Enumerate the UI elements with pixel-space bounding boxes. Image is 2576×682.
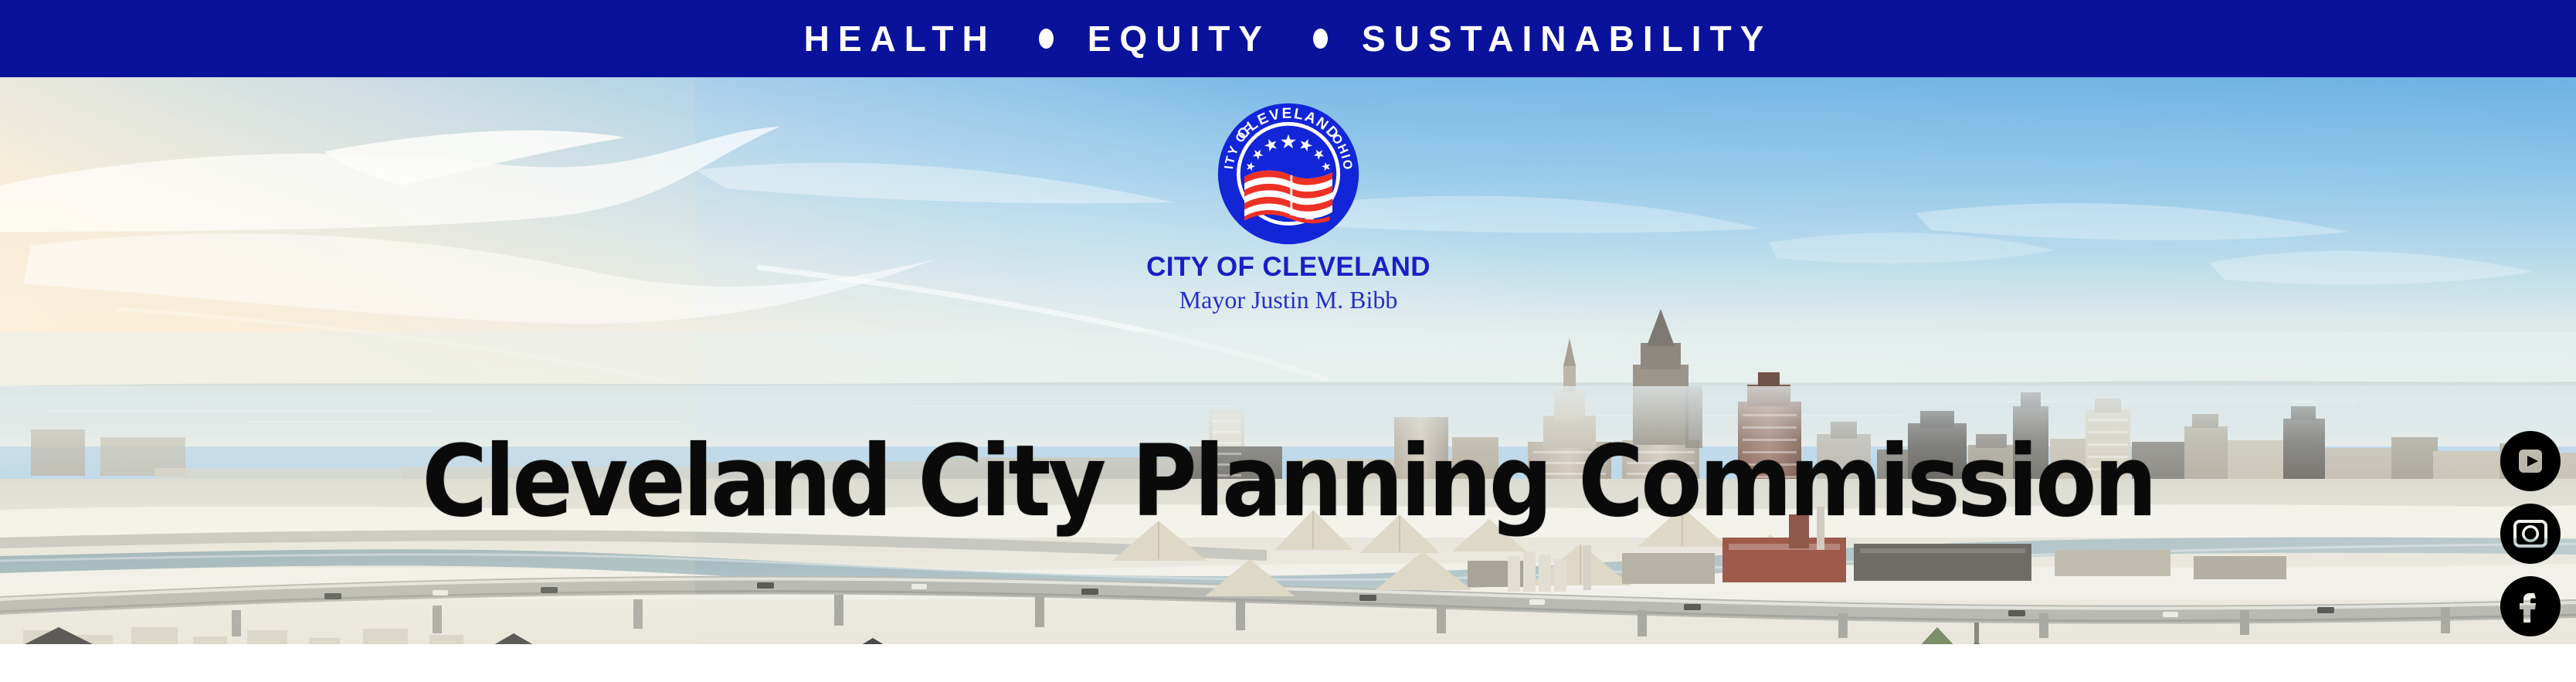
tagline-separator-dot-1 bbox=[1039, 29, 1054, 49]
logo-city-label: CITY OF CLEVELAND bbox=[1091, 253, 1485, 280]
instagram-icon[interactable] bbox=[2500, 504, 2561, 564]
city-of-cleveland-logo-block: CLEVELAND CITY OF OHIO bbox=[1091, 100, 1485, 332]
social-links bbox=[2500, 431, 2561, 636]
page-root: HEALTH EQUITY SUSTAINABILITY bbox=[0, 0, 2576, 682]
logo-mayor-label: Mayor Justin M. Bibb bbox=[1091, 287, 1485, 312]
tagline-separator-dot-2 bbox=[1313, 29, 1328, 49]
tagline-word-sustainability: SUSTAINABILITY bbox=[1362, 21, 1772, 56]
tagline-word-equity: EQUITY bbox=[1088, 21, 1271, 56]
facebook-icon[interactable] bbox=[2500, 576, 2561, 636]
youtube-icon[interactable] bbox=[2500, 431, 2561, 491]
tagline-banner: HEALTH EQUITY SUSTAINABILITY bbox=[0, 0, 2576, 77]
tagline-banner-inner: HEALTH EQUITY SUSTAINABILITY bbox=[804, 21, 1773, 56]
city-of-cleveland-ohio-seal: CLEVELAND CITY OF OHIO bbox=[1215, 100, 1362, 247]
tagline-word-health: HEALTH bbox=[804, 21, 996, 56]
